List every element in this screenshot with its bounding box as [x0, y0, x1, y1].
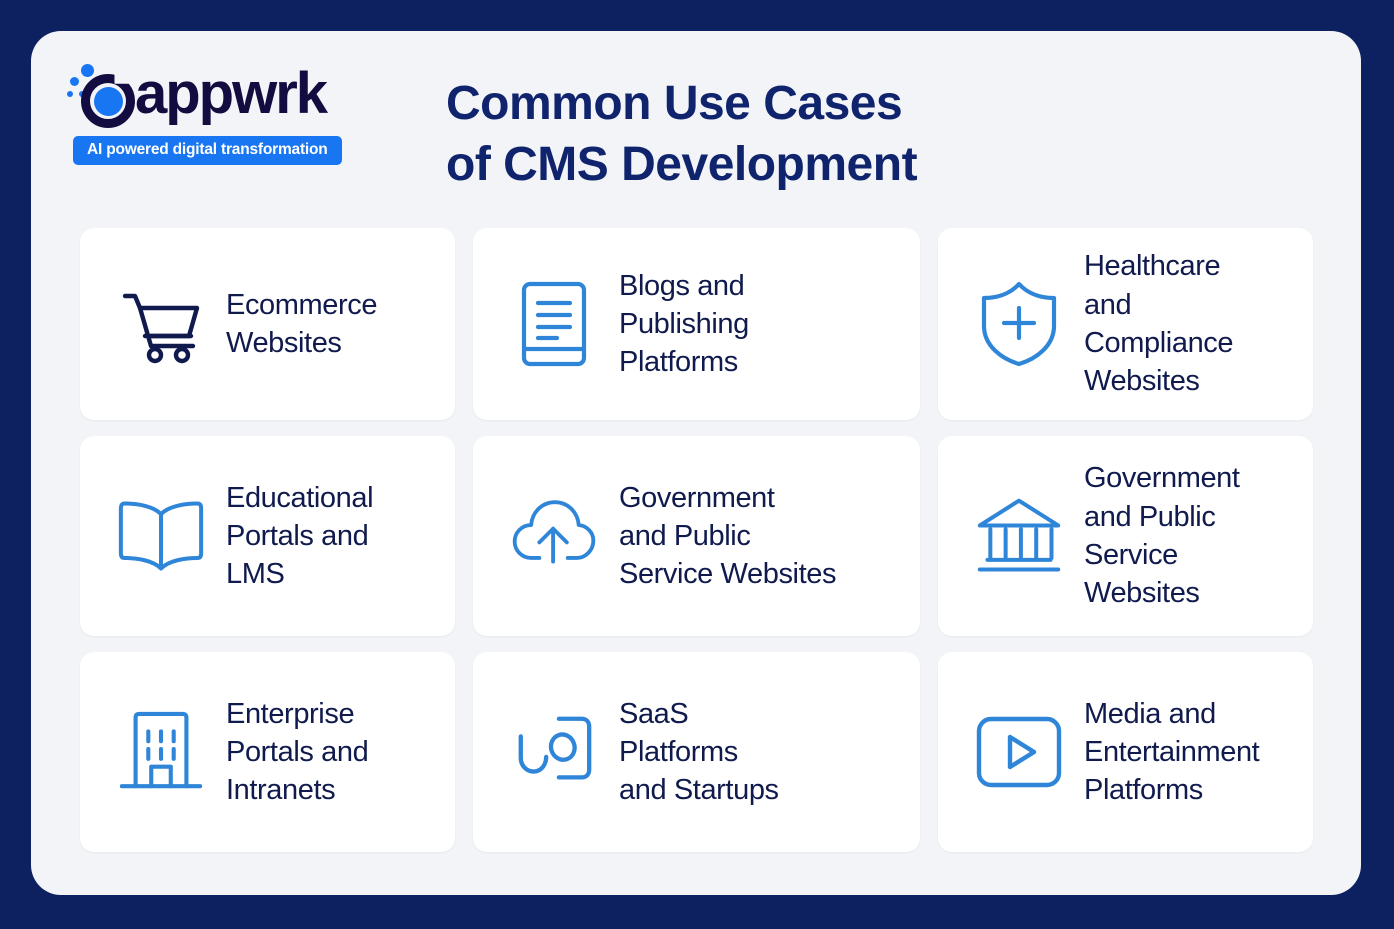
office-building-icon [118, 707, 204, 797]
label-line: Media and [1084, 695, 1259, 733]
use-case-label: Media and Entertainment Platforms [1084, 695, 1259, 810]
label-line: and Startups [619, 771, 779, 809]
use-case-card-media[interactable]: Media and Entertainment Platforms [938, 652, 1313, 852]
logo-core-circle [94, 87, 123, 116]
use-case-card-ecommerce[interactable]: Ecommerce Websites [80, 228, 455, 420]
document-lines-icon [511, 279, 597, 369]
label-line: Blogs and [619, 267, 749, 305]
use-case-card-saas[interactable]: SaaS Platforms and Startups [473, 652, 920, 852]
infographic-panel: appwrk AI powered digital transformation… [31, 31, 1361, 895]
label-line: Intranets [226, 771, 368, 809]
brand-wordmark: appwrk [135, 65, 326, 123]
label-line: SaaS [619, 695, 779, 733]
use-case-card-educational[interactable]: Educational Portals and LMS [80, 436, 455, 636]
label-line: and Public [619, 517, 836, 555]
media-play-icon [976, 707, 1062, 797]
label-line: Service [1084, 536, 1240, 574]
use-case-card-blogs[interactable]: Blogs and Publishing Platforms [473, 228, 920, 420]
label-line: Entertainment [1084, 733, 1259, 771]
shopping-cart-icon [118, 279, 204, 369]
label-line: and Public [1084, 498, 1240, 536]
use-case-label: Government and Public Service Websites [1084, 459, 1240, 612]
label-line: Government [1084, 459, 1240, 497]
use-case-card-enterprise[interactable]: Enterprise Portals and Intranets [80, 652, 455, 852]
use-case-label: Ecommerce Websites [226, 286, 377, 363]
label-line: Compliance [1084, 324, 1233, 362]
page-title-line-2: of CMS Development [446, 134, 917, 195]
label-line: Service Websites [619, 555, 836, 593]
use-case-label: Government and Public Service Websites [619, 479, 836, 594]
label-line: Portals and [226, 733, 368, 771]
open-book-icon [118, 491, 204, 581]
label-line: Platforms [619, 733, 779, 771]
label-line: Publishing [619, 305, 749, 343]
label-line: Government [619, 479, 836, 517]
use-case-label: Healthcare and Compliance Websites [1084, 247, 1233, 400]
logo-dot-small-a [67, 91, 73, 97]
label-line: Websites [226, 324, 377, 362]
label-line: Portals and [226, 517, 373, 555]
shield-plus-icon [976, 279, 1062, 369]
use-case-label: SaaS Platforms and Startups [619, 695, 779, 810]
label-line: Platforms [619, 343, 749, 381]
brand-tagline-badge: AI powered digital transformation [73, 136, 342, 165]
label-line: Websites [1084, 362, 1233, 400]
page-title-line-1: Common Use Cases [446, 73, 917, 134]
appwrk-orbit-logo-icon [61, 58, 137, 130]
brand-lockup: appwrk AI powered digital transformation [61, 57, 411, 172]
use-case-card-government-bank[interactable]: Government and Public Service Websites [938, 436, 1313, 636]
logo-dot-large [81, 64, 94, 77]
bank-building-icon [976, 491, 1062, 581]
saas-bracket-icon [511, 707, 597, 797]
use-case-label: Blogs and Publishing Platforms [619, 267, 749, 382]
logo-dot-medium [70, 77, 79, 86]
header: appwrk AI powered digital transformation… [31, 31, 1361, 206]
cloud-upload-icon [511, 491, 597, 581]
label-line: LMS [226, 555, 373, 593]
use-case-card-government-cloud[interactable]: Government and Public Service Websites [473, 436, 920, 636]
use-case-label: Enterprise Portals and Intranets [226, 695, 368, 810]
label-line: Ecommerce [226, 286, 377, 324]
use-case-label: Educational Portals and LMS [226, 479, 373, 594]
label-line: Platforms [1084, 771, 1259, 809]
page-title: Common Use Cases of CMS Development [446, 73, 917, 196]
use-case-grid: Ecommerce Websites Blogs and Publishing [80, 228, 1313, 852]
label-line: and [1084, 286, 1233, 324]
label-line: Websites [1084, 574, 1240, 612]
use-case-card-healthcare[interactable]: Healthcare and Compliance Websites [938, 228, 1313, 420]
label-line: Educational [226, 479, 373, 517]
label-line: Healthcare [1084, 247, 1233, 285]
label-line: Enterprise [226, 695, 368, 733]
